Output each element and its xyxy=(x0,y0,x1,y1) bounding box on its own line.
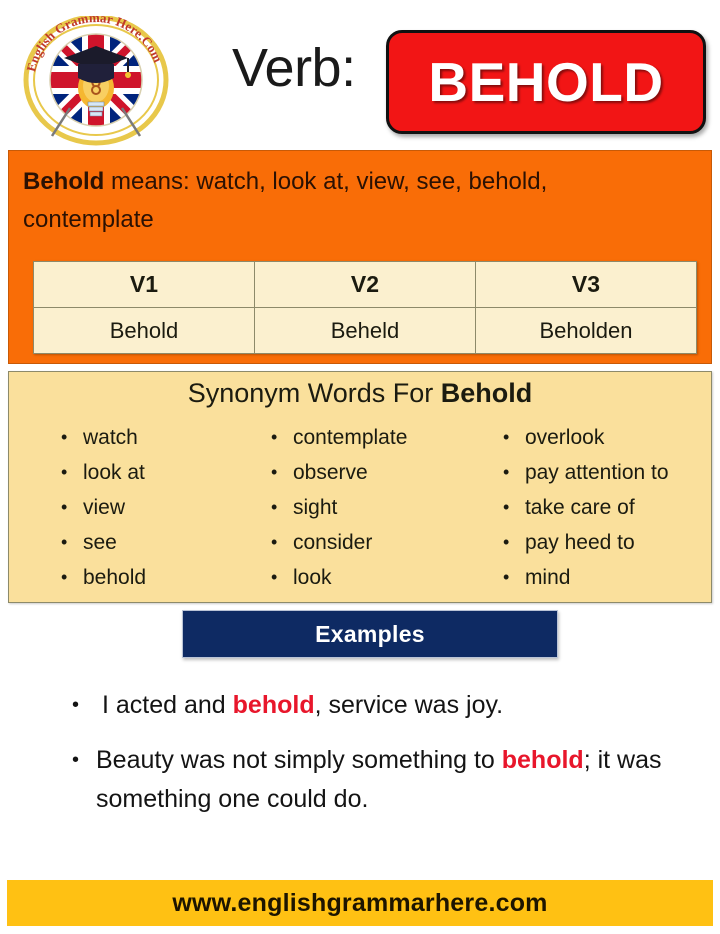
verb-value-v3: Beholden xyxy=(476,308,697,354)
synonyms-column-1: •watch •look at •view •see •behold xyxy=(9,420,243,595)
verb-word-box: BEHOLD xyxy=(386,30,706,134)
example-item-2: •Beauty was not simply something to beho… xyxy=(72,741,672,819)
bullet-icon: • xyxy=(271,560,277,595)
synonyms-column-3: •overlook •pay attention to •take care o… xyxy=(477,420,711,595)
synonym-label: mind xyxy=(525,566,571,589)
list-item: •pay attention to xyxy=(503,455,711,490)
synonym-label: contemplate xyxy=(293,426,407,449)
list-item: •look xyxy=(271,560,477,595)
bullet-icon: • xyxy=(271,525,277,560)
verb-word-text: BEHOLD xyxy=(389,33,703,131)
list-item: •consider xyxy=(271,525,477,560)
synonym-label: pay attention to xyxy=(525,461,669,484)
synonym-label: look xyxy=(293,566,332,589)
bullet-icon: • xyxy=(61,560,67,595)
bullet-icon: • xyxy=(61,525,67,560)
verb-forms-table: V1 V2 V3 Behold Beheld Beholden xyxy=(33,261,697,354)
synonym-label: look at xyxy=(83,461,145,484)
list-item: •look at xyxy=(61,455,243,490)
list-item: •contemplate xyxy=(271,420,477,455)
example-item-1: •I acted and behold, service was joy. xyxy=(72,686,672,725)
synonym-label: pay heed to xyxy=(525,531,635,554)
synonym-label: sight xyxy=(293,496,337,519)
synonym-label: overlook xyxy=(525,426,604,449)
meaning-word: Behold xyxy=(23,168,104,195)
meaning-text: Behold means: watch, look at, view, see,… xyxy=(23,163,663,239)
header: English Grammar Here.Com Verb: BEHOLD xyxy=(0,0,720,148)
verb-label: Verb: xyxy=(232,36,356,100)
bullet-icon: • xyxy=(503,560,509,595)
verb-value-v2: Beheld xyxy=(255,308,476,354)
list-item: •overlook xyxy=(503,420,711,455)
list-item: •view xyxy=(61,490,243,525)
bullet-icon: • xyxy=(503,525,509,560)
synonym-label: view xyxy=(83,496,125,519)
footer-url[interactable]: www.englishgrammarhere.com xyxy=(172,889,547,918)
example-2-pre: Beauty was not simply something to xyxy=(96,746,502,774)
bullet-icon: • xyxy=(72,741,79,780)
synonyms-title-prefix: Synonym Words For xyxy=(188,378,441,408)
list-item: •behold xyxy=(61,560,243,595)
synonym-label: observe xyxy=(293,461,368,484)
footer-bar[interactable]: www.englishgrammarhere.com xyxy=(7,880,713,926)
bullet-icon: • xyxy=(271,490,277,525)
list-item: •see xyxy=(61,525,243,560)
synonyms-columns: •watch •look at •view •see •behold •cont… xyxy=(9,420,711,595)
table-row-headers: V1 V2 V3 xyxy=(34,262,697,308)
verb-value-v1: Behold xyxy=(34,308,255,354)
synonym-label: consider xyxy=(293,531,372,554)
examples-list: •I acted and behold, service was joy. •B… xyxy=(72,686,672,835)
bullet-icon: • xyxy=(61,490,67,525)
synonyms-panel: Synonym Words For Behold •watch •look at… xyxy=(8,371,712,603)
verb-header-v1: V1 xyxy=(34,262,255,308)
bullet-icon: • xyxy=(72,686,79,725)
list-item: •sight xyxy=(271,490,477,525)
verb-header-v3: V3 xyxy=(476,262,697,308)
list-item: •mind xyxy=(503,560,711,595)
bullet-icon: • xyxy=(503,420,509,455)
synonym-label: watch xyxy=(83,426,138,449)
bullet-icon: • xyxy=(61,420,67,455)
examples-header-bar: Examples xyxy=(182,610,558,658)
verb-header-v2: V2 xyxy=(255,262,476,308)
list-item: •take care of xyxy=(503,490,711,525)
meaning-panel: Behold means: watch, look at, view, see,… xyxy=(8,150,712,364)
examples-header-label: Examples xyxy=(315,621,425,648)
bullet-icon: • xyxy=(503,455,509,490)
synonym-label: see xyxy=(83,531,117,554)
synonym-label: take care of xyxy=(525,496,635,519)
table-row-values: Behold Beheld Beholden xyxy=(34,308,697,354)
english-grammar-here-logo: English Grammar Here.Com xyxy=(12,16,180,148)
list-item: •watch xyxy=(61,420,243,455)
synonyms-title-word: Behold xyxy=(441,378,533,408)
bullet-icon: • xyxy=(61,455,67,490)
synonyms-column-2: •contemplate •observe •sight •consider •… xyxy=(243,420,477,595)
synonyms-title: Synonym Words For Behold xyxy=(9,378,711,409)
example-1-highlight: behold xyxy=(233,691,315,719)
example-2-highlight: behold xyxy=(502,746,584,774)
bullet-icon: • xyxy=(271,420,277,455)
bullet-icon: • xyxy=(271,455,277,490)
example-1-pre: I acted and xyxy=(102,691,233,719)
meaning-connector: means: xyxy=(104,168,196,195)
example-1-post: , service was joy. xyxy=(315,691,503,719)
list-item: •observe xyxy=(271,455,477,490)
list-item: •pay heed to xyxy=(503,525,711,560)
logo-icon: English Grammar Here.Com xyxy=(12,16,180,148)
bullet-icon: • xyxy=(503,490,509,525)
synonym-label: behold xyxy=(83,566,146,589)
